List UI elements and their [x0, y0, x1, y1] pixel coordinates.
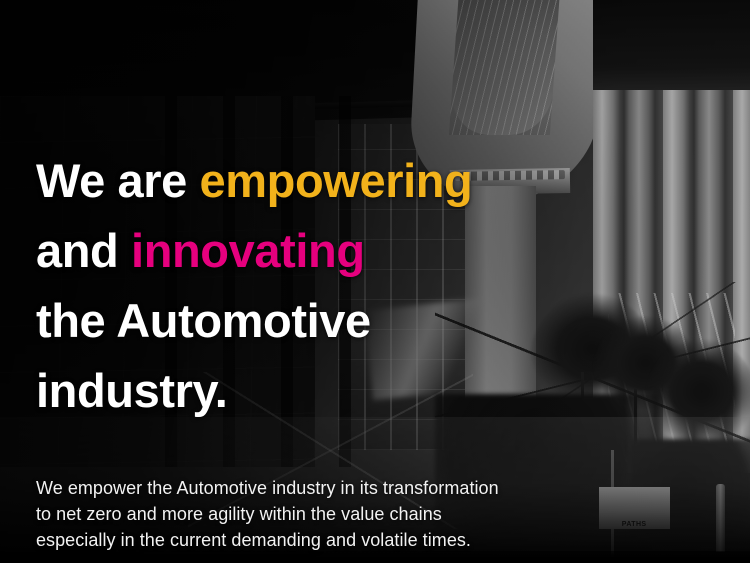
headline-line-2: and innovating [36, 216, 710, 286]
subcopy-line-2: to net zero and more agility within the … [36, 501, 710, 527]
hero-content: We are empowering and innovating the Aut… [36, 146, 710, 553]
subcopy: We empower the Automotive industry in it… [36, 426, 710, 553]
headline-line-1: We are empowering [36, 146, 710, 216]
headline-highlight-empowering: empowering [200, 154, 473, 207]
subcopy-line-1: We empower the Automotive industry in it… [36, 475, 710, 501]
headline: We are empowering and innovating the Aut… [36, 146, 710, 426]
hero-slide: PATHS We are empowering and innovating t… [0, 0, 750, 563]
subcopy-line-3: especially in the current demanding and … [36, 527, 710, 553]
headline-line-1-plain: We are [36, 154, 200, 207]
headline-highlight-innovating: innovating [131, 224, 365, 277]
headline-line-2-plain: and [36, 224, 131, 277]
headline-line-4: industry. [36, 356, 710, 426]
headline-line-3: the Automotive [36, 286, 710, 356]
